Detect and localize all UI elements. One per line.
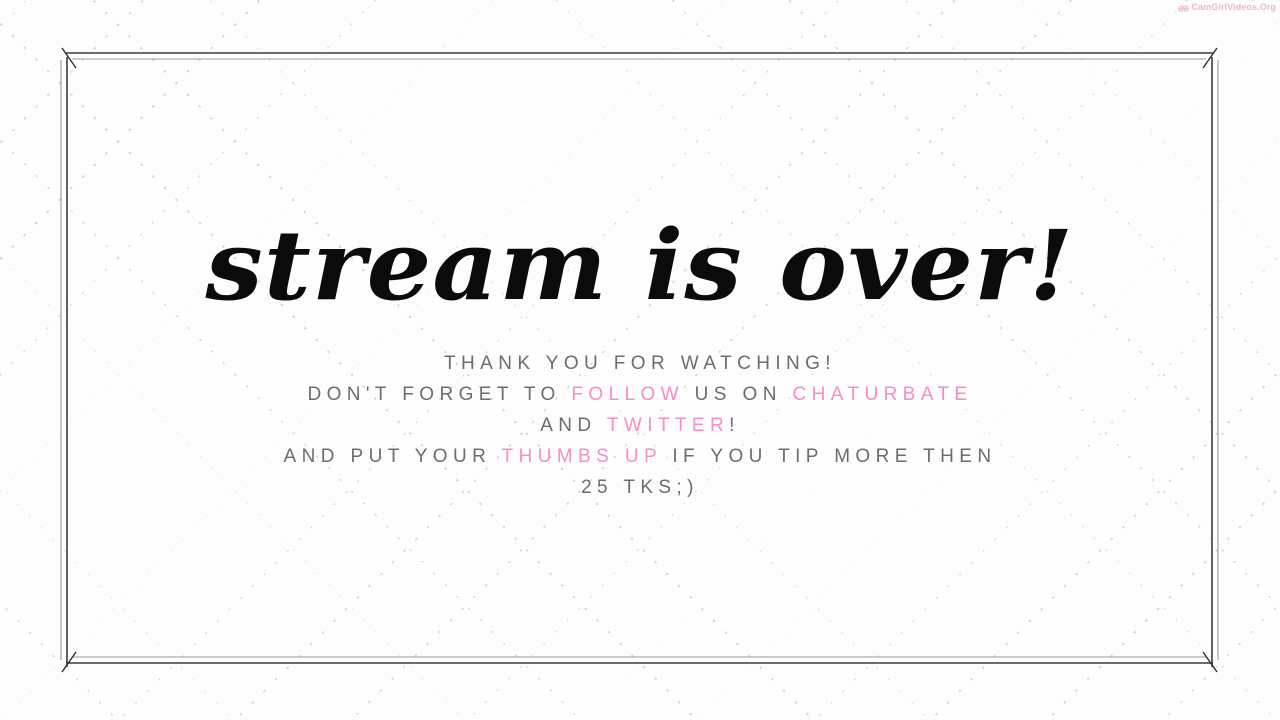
page-title: stream is over! <box>0 218 1280 314</box>
watermark: CamGirlVideos.Org <box>1178 2 1276 12</box>
message-text: US ON <box>684 384 793 405</box>
message-text: IF YOU TIP MORE THEN <box>662 446 997 467</box>
message-line-tks: 25 TKS;) <box>0 472 1280 503</box>
camgirl-logo-icon <box>1178 3 1189 12</box>
message-block: THANK YOU FOR WATCHING! DON'T FORGET TO … <box>0 348 1280 503</box>
message-text: AND PUT YOUR <box>284 446 502 467</box>
message-text: THANK YOU FOR WATCHING! <box>444 353 836 374</box>
chaturbate-link[interactable]: CHATURBATE <box>793 384 973 405</box>
overlay-content: stream is over! THANK YOU FOR WATCHING! … <box>0 0 1280 720</box>
message-text: AND <box>540 415 607 436</box>
overlay-stage: stream is over! THANK YOU FOR WATCHING! … <box>0 0 1280 720</box>
message-text: 25 TKS;) <box>581 477 699 498</box>
watermark-label: CamGirlVideos.Org <box>1191 2 1276 12</box>
message-text: ! <box>729 415 740 436</box>
message-line-follow: DON'T FORGET TO FOLLOW US ON CHATURBATE <box>0 379 1280 410</box>
message-line-thumbs: AND PUT YOUR THUMBS UP IF YOU TIP MORE T… <box>0 441 1280 472</box>
thumbs-up-link[interactable]: THUMBS UP <box>502 446 662 467</box>
twitter-link[interactable]: TWITTER <box>607 415 729 436</box>
message-line-thanks: THANK YOU FOR WATCHING! <box>0 348 1280 379</box>
follow-link[interactable]: FOLLOW <box>571 384 684 405</box>
message-line-twitter: AND TWITTER! <box>0 410 1280 441</box>
message-text: DON'T FORGET TO <box>307 384 571 405</box>
